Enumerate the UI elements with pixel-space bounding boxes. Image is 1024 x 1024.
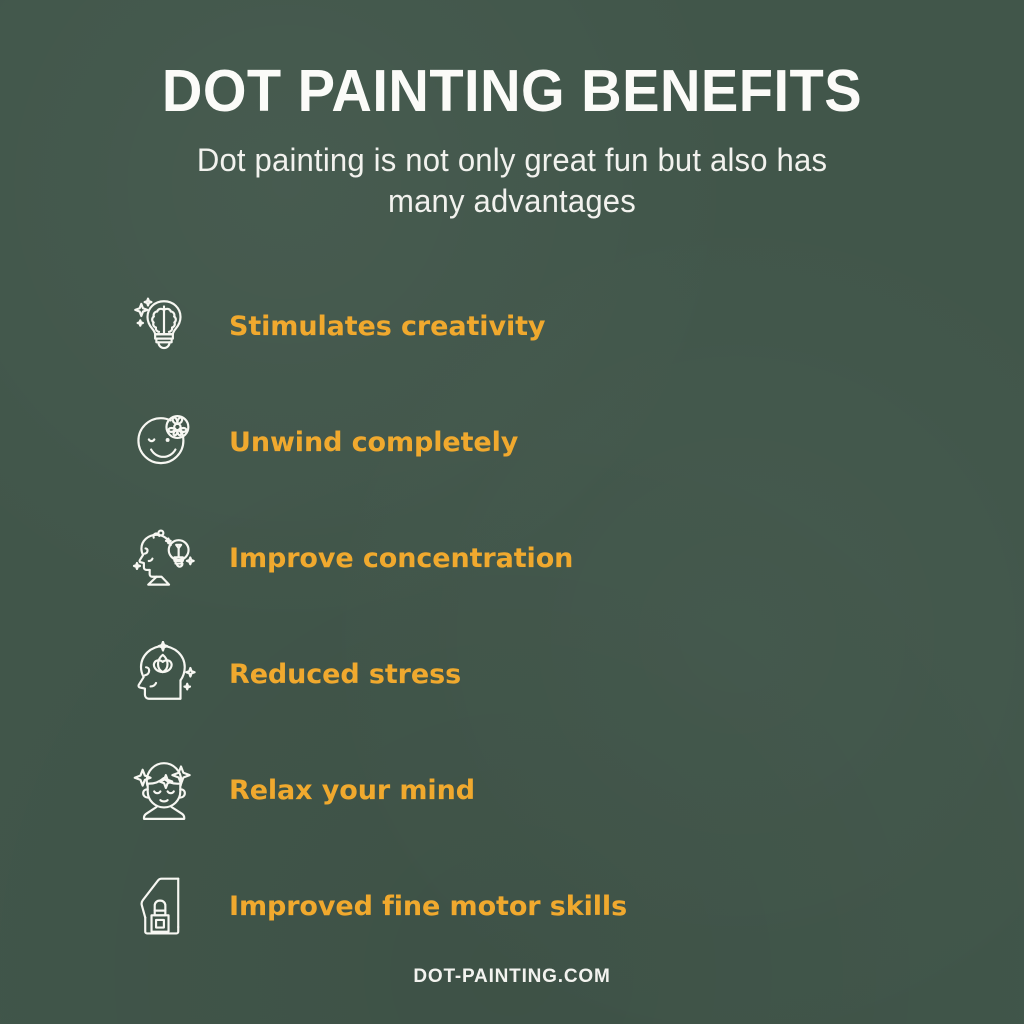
benefit-label: Reduced stress — [229, 659, 461, 690]
benefit-label: Improved fine motor skills — [229, 891, 627, 922]
poster-canvas: DOT PAINTING BENEFITS Dot painting is no… — [0, 0, 1024, 1024]
list-item: Stimulates creativity — [128, 268, 928, 384]
hand-holding-dotting-tool-icon — [128, 870, 200, 942]
benefit-label: Improve concentration — [229, 543, 573, 574]
benefit-label: Unwind completely — [229, 427, 518, 458]
relaxed-face-sparkles-icon — [128, 754, 200, 826]
page-subtitle: Dot painting is not only great fun but a… — [15, 140, 1008, 222]
poster-footer: DOT-PAINTING.COM — [0, 966, 1024, 988]
list-item: Reduced stress — [128, 616, 928, 732]
benefit-label: Stimulates creativity — [229, 311, 545, 342]
benefits-list: Stimulates creativity — [128, 268, 928, 964]
website-url: DOT-PAINTING.COM — [413, 966, 610, 987]
smiling-face-flower-icon — [128, 406, 200, 478]
head-profile-lightbulb-icon — [128, 522, 200, 594]
head-profile-lotus-icon — [128, 638, 200, 710]
list-item: Improve concentration — [128, 500, 928, 616]
page-title: DOT PAINTING BENEFITS — [26, 62, 999, 121]
list-item: Improved fine motor skills — [128, 848, 928, 964]
brain-lightbulb-icon — [128, 290, 200, 362]
benefit-label: Relax your mind — [229, 775, 475, 806]
list-item: Unwind completely — [128, 384, 928, 500]
list-item: Relax your mind — [128, 732, 928, 848]
poster-header: DOT PAINTING BENEFITS Dot painting is no… — [0, 62, 1024, 222]
